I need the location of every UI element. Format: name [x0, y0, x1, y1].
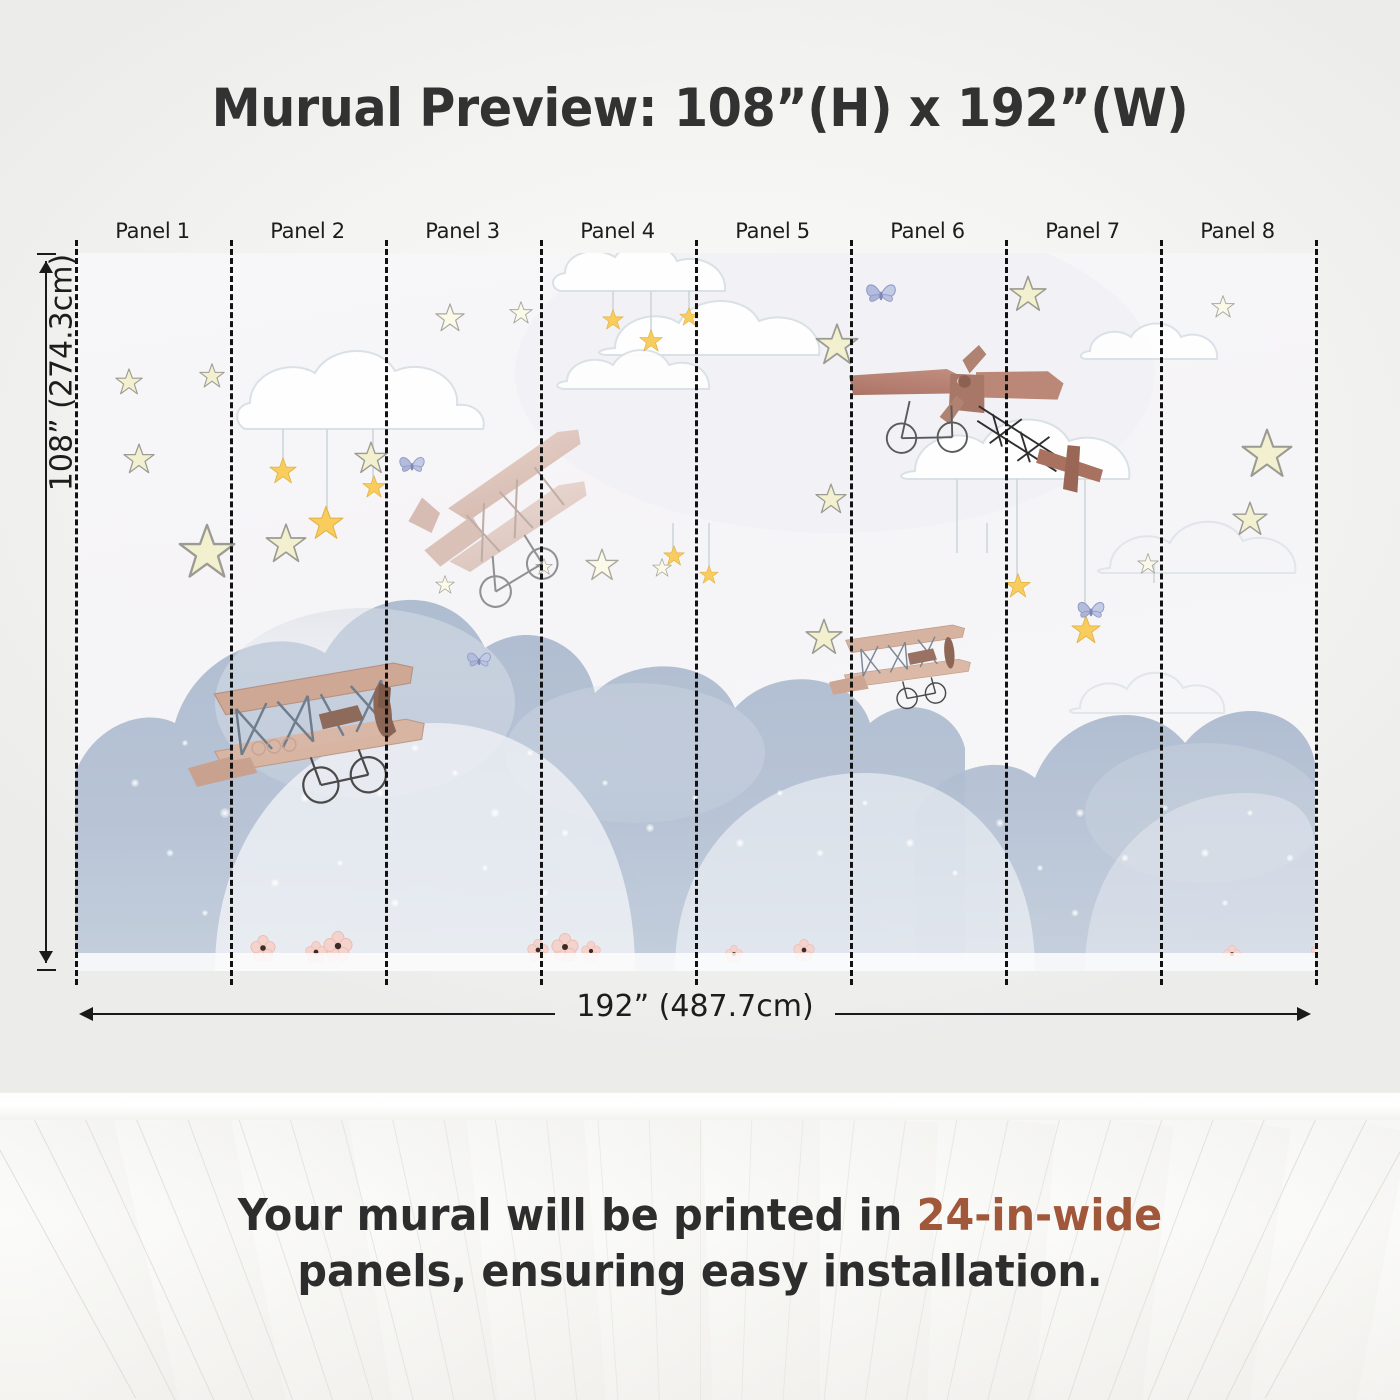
caption-accent: 24-in-wide — [917, 1190, 1163, 1241]
panel-divider-5 — [850, 240, 853, 985]
panel-divider-3 — [540, 240, 543, 985]
baseboard — [0, 1092, 1400, 1120]
panel-label-3: Panel 3 — [385, 219, 540, 243]
page-title: Murual Preview: 108”(H) x 192”(W) — [49, 78, 1351, 139]
height-tick-bottom — [37, 969, 56, 971]
height-arrow-head-bottom — [39, 951, 53, 963]
panel-divider-4 — [695, 240, 698, 985]
panel-divider-6 — [1005, 240, 1008, 985]
panel-label-1: Panel 1 — [75, 219, 230, 243]
panel-label-7: Panel 7 — [1005, 219, 1160, 243]
panel-divider-7 — [1160, 240, 1163, 985]
caption: Your mural will be printed in 24-in-wide… — [42, 1188, 1358, 1301]
width-dimension-label: 192” (487.7cm) — [75, 989, 1315, 1024]
panel-divider-1 — [230, 240, 233, 985]
panel-label-5: Panel 5 — [695, 219, 850, 243]
panel-label-4: Panel 4 — [540, 219, 695, 243]
caption-line2: panels, ensuring easy installation. — [297, 1246, 1102, 1297]
panel-divider-right-edge — [1315, 240, 1318, 985]
width-dimension-arrow: 192” (487.7cm) — [75, 1005, 1315, 1023]
caption-line1-pre: Your mural will be printed in — [238, 1190, 917, 1241]
panel-label-2: Panel 2 — [230, 219, 385, 243]
panel-divider-2 — [385, 240, 388, 985]
panel-divider-left-edge — [75, 240, 78, 985]
panel-label-8: Panel 8 — [1160, 219, 1315, 243]
mural-preview: Panel 1 Panel 2 Panel 3 Panel 4 Panel 5 … — [75, 253, 1315, 971]
panel-label-6: Panel 6 — [850, 219, 1005, 243]
